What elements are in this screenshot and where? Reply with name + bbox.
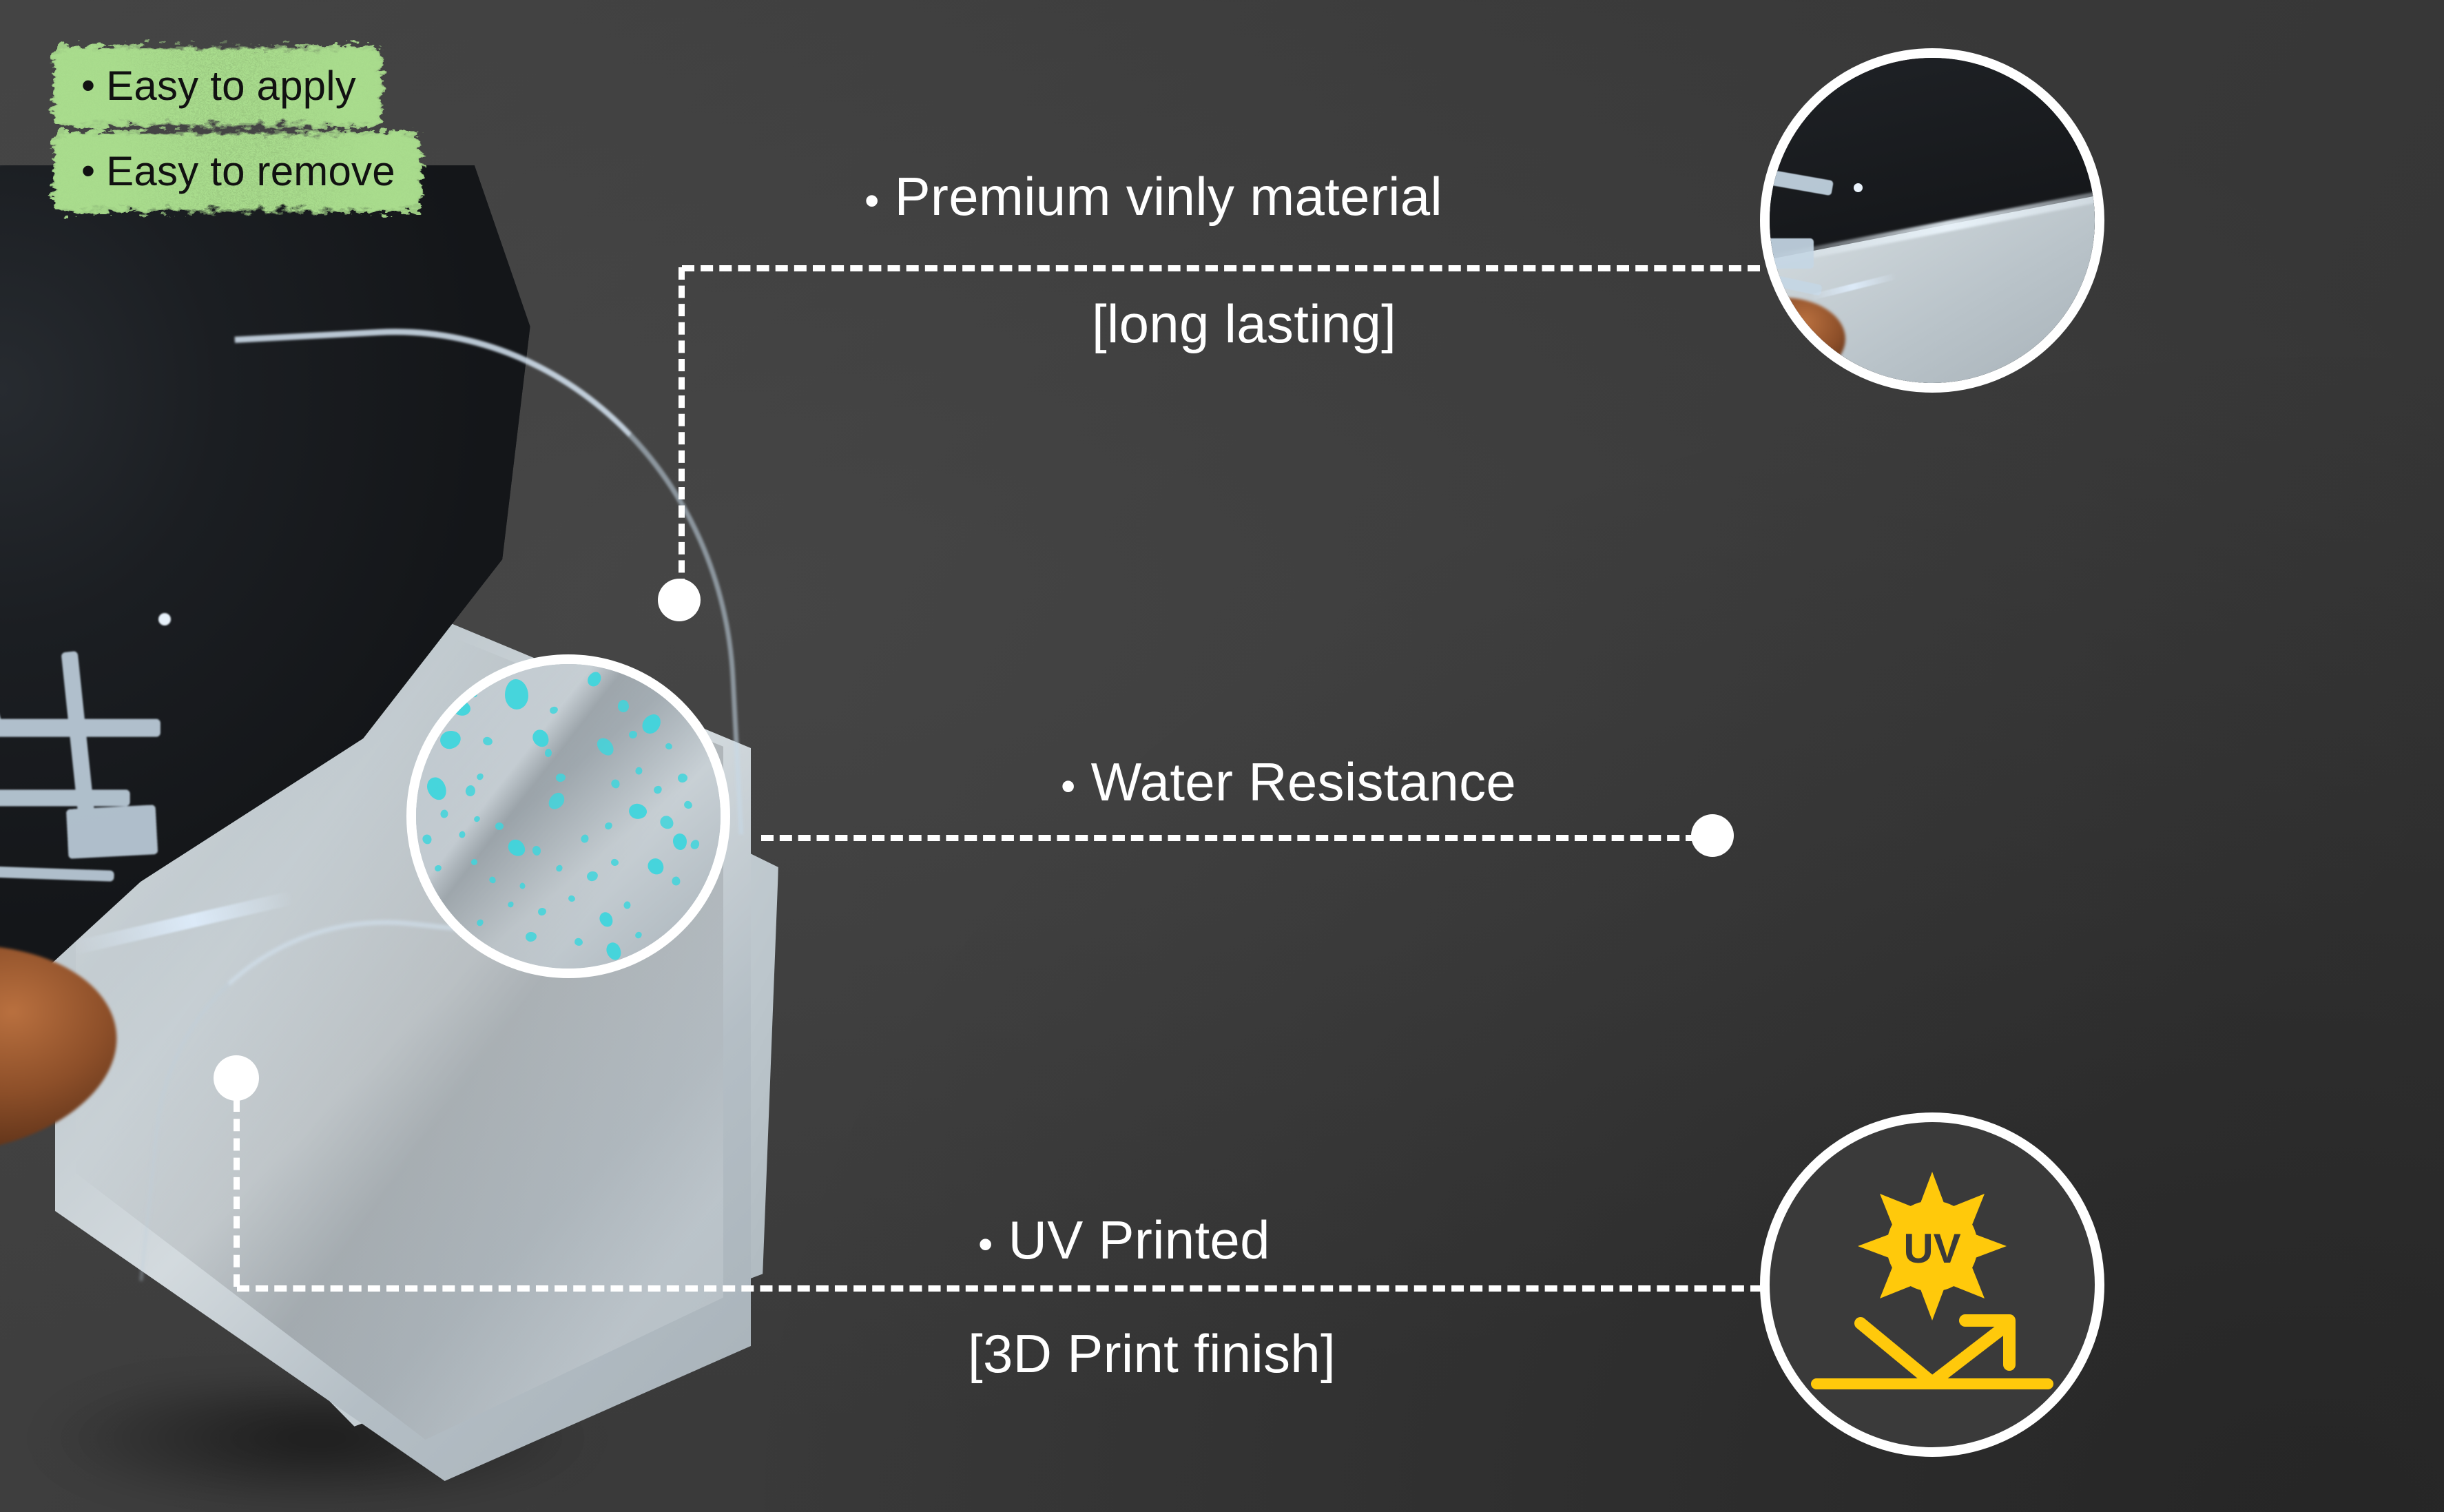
connector-line-premium-vertical [679, 267, 685, 591]
feature-bullet: • [1061, 762, 1076, 810]
connector-line-uv-vertical [234, 1099, 240, 1287]
inset-gloss-dot [1854, 183, 1863, 192]
uv-icon-center-text: UV [1903, 1225, 1960, 1272]
badge-label: Easy to apply [106, 62, 356, 110]
inset-water-droplets-photo [406, 654, 730, 978]
connector-line-water [761, 835, 1698, 841]
badge-easy-to-apply: • Easy to apply [81, 62, 356, 110]
badge-bullet: • [81, 66, 95, 105]
connector-line-uv-horizontal [237, 1285, 1763, 1292]
feature-label-premium-vinyl: •Premium vinly material [864, 165, 1442, 228]
badge-label: Easy to remove [106, 147, 395, 195]
gloss-glint [158, 613, 171, 625]
feature-title: Premium vinly material [895, 166, 1442, 227]
badge-bullet: • [81, 152, 95, 191]
feature-label-uv-printed: •UV Printed [978, 1209, 1270, 1272]
connector-line-premium-horizontal [682, 265, 1760, 271]
feature-title: Water Resistance [1091, 752, 1516, 812]
printed-logo-graphic [0, 619, 230, 896]
infographic-canvas: • Easy to apply • Easy to remove •Premiu… [0, 0, 2444, 1512]
badge-easy-to-remove: • Easy to remove [81, 147, 395, 195]
uv-reflection-ray [1861, 1323, 2004, 1382]
feature-title: UV Printed [1008, 1210, 1270, 1270]
inset-uv-sun-icon: UV [1760, 1112, 2104, 1457]
feature-bullet: • [864, 176, 880, 225]
inset-peel-closeup-photo [1760, 48, 2104, 393]
connector-node-uv [214, 1055, 259, 1101]
connector-node-water [1691, 814, 1734, 857]
feature-subtitle-long-lasting: [long lasting] [1092, 293, 1396, 355]
connector-node-premium [658, 579, 701, 621]
feature-label-water-resistance: •Water Resistance [1061, 751, 1516, 814]
feature-bullet: • [978, 1220, 993, 1268]
uv-sun-icon-graphic: UV [1794, 1147, 2070, 1422]
feature-subtitle-3d-print-finish: [3D Print finish] [968, 1323, 1336, 1385]
